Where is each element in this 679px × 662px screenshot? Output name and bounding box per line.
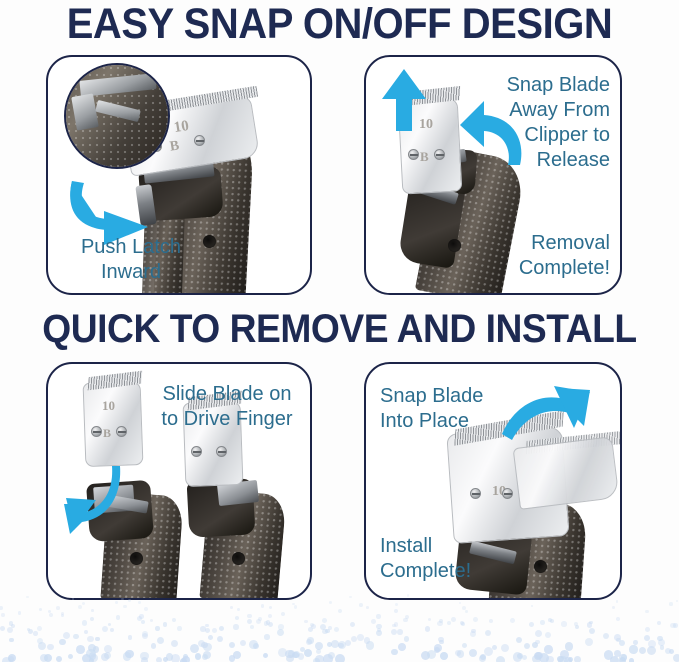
blade-screw-right — [116, 426, 127, 437]
decorative-dot — [128, 599, 131, 602]
decorative-dot — [434, 647, 440, 653]
decorative-dot — [292, 603, 295, 606]
decorative-dot — [395, 603, 398, 606]
decorative-dot — [391, 629, 397, 635]
decorative-dot — [532, 655, 541, 662]
blade-brand-mark: B — [420, 149, 429, 165]
decorative-dot — [531, 605, 534, 608]
decorative-dot — [394, 609, 398, 613]
decorative-dot — [277, 629, 284, 636]
detached-blade — [83, 381, 144, 467]
decorative-dot — [115, 601, 118, 604]
decorative-dot — [47, 644, 53, 650]
decorative-dot — [123, 652, 132, 661]
decorative-dot — [182, 656, 190, 662]
decorative-dot — [350, 622, 355, 627]
decorative-dot — [587, 622, 592, 627]
decorative-dot — [104, 645, 112, 653]
decorative-dot — [219, 626, 224, 631]
decorative-dot — [568, 657, 573, 662]
decorative-dot — [376, 624, 381, 629]
decorative-dot — [72, 598, 74, 600]
page-title-top: EASY SNAP ON/OFF DESIGN — [24, 1, 655, 47]
decorative-dot — [322, 618, 327, 623]
decorative-dot — [349, 596, 351, 598]
decorative-dot — [78, 605, 82, 609]
decorative-dot — [459, 602, 462, 605]
decorative-dot — [316, 649, 321, 654]
decorative-dot — [540, 620, 545, 625]
curved-arrow-down-left-3 — [56, 460, 122, 538]
panel-2-caption-status: Removal Complete! — [478, 231, 610, 281]
decorative-dot — [359, 603, 363, 607]
decorative-dot — [329, 601, 332, 604]
decorative-dot — [84, 630, 88, 634]
decorative-dot — [440, 652, 448, 660]
decorative-dot — [202, 654, 208, 660]
decorative-dot — [268, 614, 272, 618]
decorative-dot — [101, 653, 109, 661]
decorative-dot — [90, 617, 94, 621]
decorative-dot — [278, 624, 284, 630]
decorative-dot — [76, 645, 85, 654]
decorative-dot — [177, 626, 181, 630]
decorative-dot — [669, 649, 674, 654]
decorative-dot — [392, 624, 396, 628]
decorative-dot — [619, 640, 625, 646]
panel-3-caption: Slide Blade on to Drive Finger — [152, 382, 302, 432]
decorative-dot — [335, 654, 345, 662]
decorative-dot — [603, 633, 609, 639]
decorative-dot — [139, 614, 144, 619]
clipper-port-hole — [130, 552, 143, 565]
decorative-dot — [116, 615, 121, 620]
blade-screw-left — [91, 426, 102, 437]
decorative-dot — [304, 649, 312, 657]
decorative-dot — [492, 645, 497, 650]
decorative-dot — [208, 635, 213, 640]
decorative-dot — [621, 654, 628, 661]
decorative-dot — [496, 656, 505, 662]
panel-2-caption-primary: Snap Blade Away From Clipper to Release — [478, 73, 610, 173]
decorative-dot — [612, 606, 615, 609]
decorative-dot — [345, 640, 352, 647]
decorative-dot — [33, 631, 38, 636]
step-panel-2: 10 B Snap Blade Away From Clipper to Rel… — [364, 55, 622, 295]
decorative-dot — [439, 640, 443, 644]
decorative-dot — [405, 615, 409, 619]
decorative-dot — [201, 642, 208, 649]
decorative-dot — [645, 610, 648, 613]
decorative-dot — [364, 637, 371, 644]
decorative-dot — [397, 629, 403, 635]
decorative-dot — [235, 616, 239, 620]
decorative-dot — [230, 606, 233, 609]
decorative-dot — [138, 601, 141, 604]
decorative-dot — [87, 636, 93, 642]
decorative-dot — [546, 656, 554, 662]
decorative-dot — [338, 609, 342, 613]
clipper-port-hole — [232, 552, 245, 565]
decorative-dot — [150, 619, 153, 622]
decorative-dot — [323, 654, 332, 662]
decorative-dot — [462, 643, 467, 648]
decorative-dot — [294, 605, 298, 609]
decorative-dot — [261, 604, 264, 607]
decorative-dot — [1, 613, 4, 616]
decorative-dot — [121, 598, 123, 600]
decorative-dot — [469, 649, 477, 657]
decorative-dot — [489, 619, 493, 623]
decorative-dot — [516, 637, 522, 643]
decorative-dot — [155, 626, 159, 630]
decorative-dot — [156, 657, 162, 662]
decorative-dot — [484, 647, 493, 656]
decorative-dot — [470, 631, 476, 637]
decorative-dot — [26, 596, 28, 598]
decorative-dot — [376, 614, 380, 618]
decorative-dot — [524, 643, 530, 649]
decorative-dot — [171, 640, 178, 647]
decorative-dot — [9, 638, 13, 642]
decorative-dot — [485, 630, 491, 636]
decorative-dot — [68, 654, 73, 659]
step-panel-4: 10 Snap Blade Into Place Install Complet… — [364, 362, 622, 600]
decorative-dot — [91, 609, 94, 612]
decorative-dot — [249, 640, 258, 649]
decorative-dot — [532, 642, 538, 648]
decorative-dot — [676, 600, 678, 602]
decorative-dot — [616, 600, 619, 603]
decorative-dot — [371, 619, 376, 624]
decorative-dot — [151, 643, 156, 648]
decorative-dot — [334, 627, 339, 632]
blade-screw-right — [434, 149, 445, 160]
decorative-dot — [465, 610, 468, 613]
step-panel-3: 10 B Slide Blade on to Drive Finger — [46, 362, 312, 600]
decorative-dot — [95, 637, 99, 641]
decorative-dot — [425, 626, 431, 632]
decorative-dot — [163, 657, 168, 662]
panel-4-caption-status: Install Complete! — [380, 534, 510, 584]
decorative-dot — [325, 629, 330, 634]
decorative-dot — [462, 606, 466, 610]
blade-screw-right — [502, 488, 513, 499]
curved-arrow-right-4 — [498, 384, 592, 454]
decorative-dot — [0, 626, 5, 631]
decorative-dot — [461, 622, 465, 626]
decorative-dot — [428, 618, 431, 621]
decorative-dot — [614, 650, 621, 657]
decorative-dot — [268, 622, 273, 627]
decorative-dot — [633, 640, 638, 645]
panel-4-caption-primary: Snap Blade Into Place — [380, 384, 500, 434]
decorative-dot — [439, 619, 443, 623]
decorative-dot — [575, 625, 579, 629]
clipper-port-hole — [448, 239, 461, 252]
decorative-dot — [545, 632, 552, 639]
decorative-dot — [629, 645, 637, 653]
decorative-dot — [544, 645, 553, 654]
decorative-dot — [195, 653, 202, 660]
decorative-dot — [205, 628, 210, 633]
decorative-dot — [658, 639, 665, 646]
decorative-dot — [501, 644, 509, 652]
decorative-dot — [163, 622, 167, 626]
infographic-sheet: EASY SNAP ON/OFF DESIGN 10 B — [0, 0, 679, 662]
decorative-dot — [315, 642, 323, 650]
decorative-dot — [217, 636, 223, 642]
decorative-dot — [108, 623, 111, 626]
decorative-dot — [82, 602, 85, 605]
decorative-dot — [110, 628, 114, 632]
decorative-dot — [44, 654, 52, 662]
decorative-dot — [157, 637, 164, 644]
decorative-dot — [39, 608, 42, 611]
decorative-dot — [673, 654, 679, 662]
decorative-dot — [561, 621, 566, 626]
decorative-dot — [616, 617, 620, 621]
decorative-dot — [229, 642, 235, 648]
decorative-dot — [550, 619, 554, 623]
decorative-dot — [205, 624, 209, 628]
decorative-dot — [310, 623, 314, 627]
decorative-dot — [451, 617, 456, 622]
panel-1-caption: Push Latch Inward — [56, 235, 206, 285]
decorative-dot — [293, 651, 300, 658]
blade-screw-right — [194, 135, 205, 146]
bottom-dot-pattern — [0, 592, 679, 662]
decorative-dot — [8, 656, 14, 662]
decorative-dot — [657, 621, 662, 626]
step-panel-1: 10 B Push Latch Inward — [46, 55, 312, 295]
decorative-dot — [18, 611, 21, 614]
decorative-dot — [407, 594, 409, 596]
decorative-dot — [141, 657, 149, 662]
decorative-dot — [357, 634, 363, 640]
blade-screw-left — [408, 149, 419, 160]
decorative-dot — [141, 620, 146, 625]
decorative-dot — [669, 602, 672, 605]
decorative-dot — [7, 627, 14, 634]
blade-size-marking: 10 — [173, 118, 190, 137]
decorative-dot — [313, 658, 320, 662]
decorative-dot — [404, 636, 410, 642]
decorative-dot — [237, 608, 240, 611]
decorative-dot — [535, 630, 542, 637]
decorative-dot — [269, 606, 272, 609]
page-title-bottom: QUICK TO REMOVE AND INSTALL — [24, 306, 655, 352]
decorative-dot — [73, 634, 78, 639]
decorative-dot — [229, 655, 236, 662]
decorative-dot — [56, 656, 62, 662]
decorative-dot — [645, 627, 650, 632]
decorative-dot — [128, 635, 132, 639]
decorative-dot — [529, 622, 534, 627]
latch-closeup-inset — [64, 63, 170, 169]
decorative-dot — [639, 647, 646, 654]
decorative-dot — [247, 614, 251, 618]
clipper-port-hole — [534, 560, 547, 573]
blade-screw-left-2 — [191, 446, 202, 457]
decorative-dot — [102, 626, 108, 632]
decorative-dot — [264, 634, 269, 639]
decorative-dot — [247, 619, 252, 624]
decorative-dot — [263, 653, 268, 658]
decorative-dot — [0, 606, 3, 610]
decorative-dot — [648, 640, 656, 648]
decorative-dot — [37, 626, 43, 632]
decorative-dot — [49, 613, 53, 617]
blade-brand-mark: B — [103, 426, 111, 441]
decorative-dot — [172, 618, 176, 622]
decorative-dot — [673, 623, 678, 628]
blade-size-marking: 10 — [102, 398, 115, 414]
decorative-dot — [61, 612, 64, 615]
decorative-dot — [557, 656, 564, 662]
decorative-dot — [366, 606, 369, 609]
decorative-dot — [250, 625, 254, 629]
blade-screw-left — [470, 488, 481, 499]
arrow-up-2 — [380, 69, 428, 131]
decorative-dot — [304, 620, 308, 624]
decorative-dot — [629, 658, 634, 662]
decorative-dot — [307, 637, 313, 643]
decorative-dot — [574, 656, 581, 662]
decorative-dot — [398, 643, 406, 651]
decorative-dot — [473, 617, 478, 622]
decorative-dot — [258, 617, 262, 621]
decorative-dot — [212, 628, 217, 633]
decorative-dot — [233, 624, 238, 629]
decorative-dot — [56, 606, 60, 610]
decorative-dot — [510, 618, 515, 623]
decorative-dot — [391, 649, 398, 656]
decorative-dot — [281, 612, 285, 616]
decorative-dot — [144, 607, 148, 611]
decorative-dot — [589, 628, 595, 634]
blade-screw-right-2 — [216, 446, 227, 457]
decorative-dot — [63, 632, 70, 639]
decorative-dot — [585, 638, 593, 646]
decorative-dot — [240, 640, 246, 646]
decorative-dot — [123, 605, 126, 608]
decorative-dot — [59, 639, 65, 645]
decorative-dot — [351, 636, 357, 642]
decorative-dot — [142, 633, 148, 639]
decorative-dot — [82, 620, 88, 626]
